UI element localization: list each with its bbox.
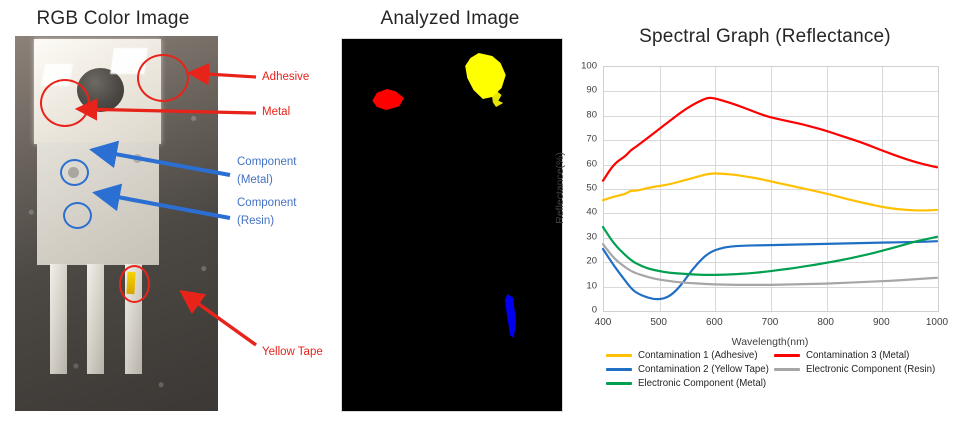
legend-item[interactable]: Contamination 2 (Yellow Tape) bbox=[606, 364, 774, 375]
marker-circle-metal bbox=[40, 79, 90, 127]
y-axis-tick-label: 30 bbox=[571, 231, 597, 242]
legend-color-swatch bbox=[774, 354, 800, 357]
lead-1 bbox=[50, 264, 67, 374]
marker-circle-adhesive bbox=[137, 54, 189, 102]
chart-x-axis-label: Wavelength(nm) bbox=[603, 336, 937, 348]
annotation-label-component-resin-line1: Component bbox=[237, 196, 296, 210]
chart-y-axis-label: Reflectance(%) bbox=[554, 152, 566, 224]
annotation-label-yellow-tape: Yellow Tape bbox=[262, 345, 323, 359]
y-axis-tick-label: 20 bbox=[571, 256, 597, 267]
annotation-label-component-metal-line1: Component bbox=[237, 155, 296, 169]
analyzed-blob-blue bbox=[504, 294, 518, 338]
marker-circle-component-resin bbox=[63, 202, 92, 229]
series-line bbox=[603, 227, 937, 275]
legend-label: Electronic Component (Metal) bbox=[638, 378, 766, 389]
legend-color-swatch bbox=[606, 368, 632, 371]
series-line bbox=[603, 98, 937, 181]
legend-item[interactable]: Contamination 1 (Adhesive) bbox=[606, 350, 774, 361]
legend-label: Contamination 3 (Metal) bbox=[806, 350, 909, 361]
x-axis-tick-label: 900 bbox=[861, 317, 901, 328]
y-axis-tick-label: 100 bbox=[571, 61, 597, 72]
y-axis-tick-label: 40 bbox=[571, 207, 597, 218]
rgb-color-image-panel: RGB Color Image bbox=[0, 0, 340, 423]
legend-item[interactable]: Electronic Component (Metal) bbox=[606, 378, 774, 389]
legend-label: Contamination 1 (Adhesive) bbox=[638, 350, 758, 361]
x-axis-tick-label: 400 bbox=[583, 317, 623, 328]
chart-title: Spectral Graph (Reflectance) bbox=[575, 26, 955, 48]
series-line bbox=[603, 173, 937, 210]
y-axis-tick-label: 10 bbox=[571, 280, 597, 291]
legend-color-swatch bbox=[606, 382, 632, 385]
annotation-label-metal: Metal bbox=[262, 105, 290, 119]
x-axis-tick-label: 800 bbox=[806, 317, 846, 328]
y-axis-tick-label: 90 bbox=[571, 85, 597, 96]
x-axis-tick-label: 700 bbox=[750, 317, 790, 328]
legend-color-swatch bbox=[774, 368, 800, 371]
legend-label: Contamination 2 (Yellow Tape) bbox=[638, 364, 769, 375]
analyzed-image bbox=[341, 38, 563, 412]
rgb-photograph bbox=[15, 36, 218, 411]
chart-legend: Contamination 1 (Adhesive)Contamination … bbox=[606, 350, 954, 389]
y-axis-tick-label: 60 bbox=[571, 158, 597, 169]
x-axis-tick-label: 600 bbox=[694, 317, 734, 328]
rgb-panel-title: RGB Color Image bbox=[0, 8, 226, 30]
annotation-label-component-resin-line2: (Resin) bbox=[237, 214, 274, 228]
legend-color-swatch bbox=[606, 354, 632, 357]
y-axis-tick-label: 50 bbox=[571, 183, 597, 194]
analyzed-blob-yellow bbox=[460, 53, 512, 103]
resin-surface-mark-2 bbox=[133, 154, 142, 163]
package-resin-body bbox=[37, 142, 159, 265]
legend-item[interactable]: Electronic Component (Resin) bbox=[774, 364, 954, 375]
y-axis-tick-label: 0 bbox=[571, 305, 597, 316]
x-axis-tick-label: 1000 bbox=[917, 317, 957, 328]
legend-label: Electronic Component (Resin) bbox=[806, 364, 935, 375]
y-axis-tick-label: 70 bbox=[571, 134, 597, 145]
lead-2 bbox=[87, 264, 104, 374]
annotation-label-adhesive: Adhesive bbox=[262, 70, 309, 84]
marker-circle-component-metal bbox=[60, 159, 89, 186]
legend-item[interactable]: Contamination 3 (Metal) bbox=[774, 350, 954, 361]
y-axis-tick-label: 80 bbox=[571, 109, 597, 120]
annotation-label-component-metal-line2: (Metal) bbox=[237, 173, 273, 187]
x-axis-tick-label: 500 bbox=[639, 317, 679, 328]
analyzed-panel-title: Analyzed Image bbox=[330, 8, 570, 30]
marker-circle-yellow-tape bbox=[119, 265, 150, 303]
analyzed-blob-red bbox=[371, 89, 404, 110]
chart-series-lines bbox=[603, 66, 937, 310]
